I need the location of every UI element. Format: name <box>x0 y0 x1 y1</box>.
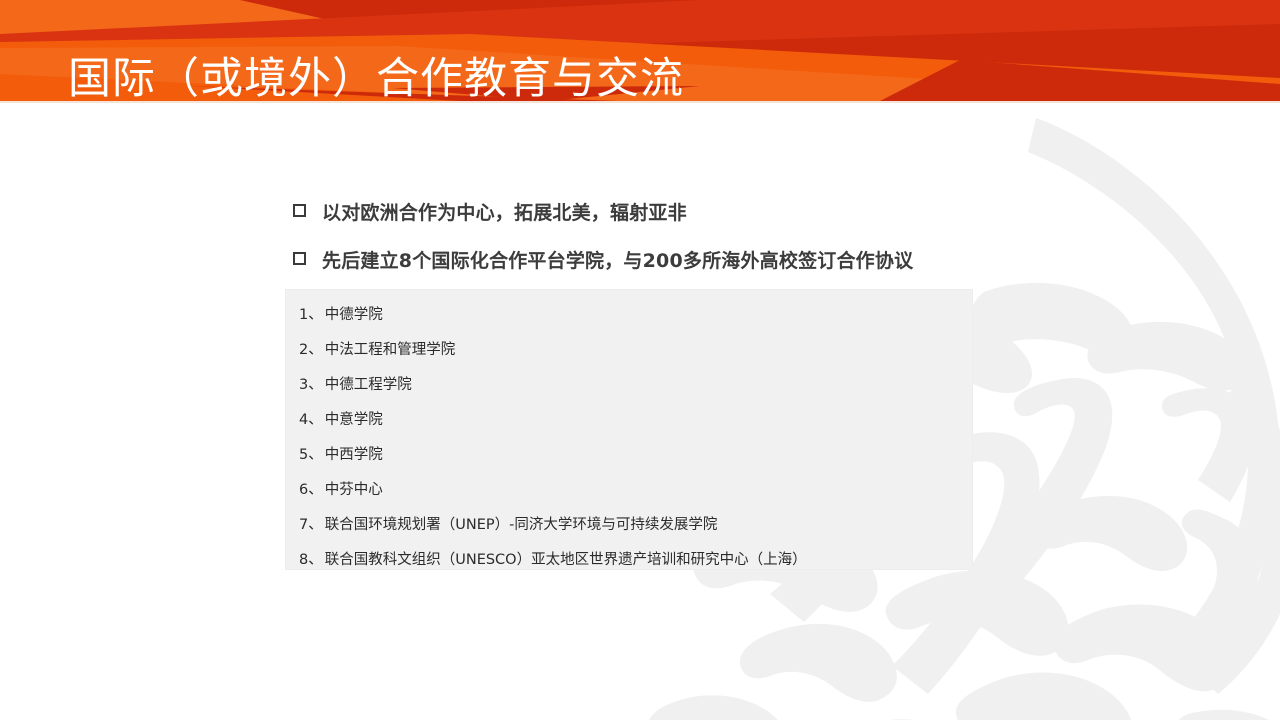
list-item: 2、 中法工程和管理学院 <box>299 338 972 360</box>
list-item-label: 中法工程和管理学院 <box>325 338 456 359</box>
list-item: 3、 中德工程学院 <box>299 373 972 395</box>
hollow-square-icon <box>293 204 306 217</box>
list-item-index: 7、 <box>299 513 323 534</box>
list-item-index: 8、 <box>299 548 323 569</box>
list-item-index: 5、 <box>299 443 323 464</box>
list-item: 1、 中德学院 <box>299 303 972 325</box>
list-item-label: 联合国环境规划署（UNEP）-同济大学环境与可持续发展学院 <box>325 513 718 534</box>
list-item-index: 2、 <box>299 338 323 359</box>
slide-canvas: 国际（或境外）合作教育与交流 以对欧洲合作为中心，拓展北美，辐射亚非 先后建立8… <box>0 0 1280 720</box>
list-item-label: 中芬中心 <box>325 478 383 499</box>
list-item-label: 中西学院 <box>325 443 383 464</box>
list-item: 6、 中芬中心 <box>299 478 972 500</box>
list-item-label: 中德学院 <box>325 303 383 324</box>
institution-list-panel: 1、 中德学院 2、 中法工程和管理学院 3、 中德工程学院 4、 中意学院 5… <box>285 289 973 570</box>
list-item: 8、 联合国教科文组织（UNESCO）亚太地区世界遗产培训和研究中心（上海） <box>299 548 972 570</box>
bullet-item-label: 先后建立8个国际化合作平台学院，与200多所海外高校签订合作协议 <box>322 246 913 273</box>
list-item-label: 联合国教科文组织（UNESCO）亚太地区世界遗产培训和研究中心（上海） <box>325 548 807 569</box>
list-item-index: 1、 <box>299 303 323 324</box>
bullet-item-label: 以对欧洲合作为中心，拓展北美，辐射亚非 <box>322 198 687 225</box>
list-item: 4、 中意学院 <box>299 408 972 430</box>
bullet-item: 以对欧洲合作为中心，拓展北美，辐射亚非 <box>293 198 913 232</box>
list-item-index: 4、 <box>299 408 323 429</box>
list-item: 7、 联合国环境规划署（UNEP）-同济大学环境与可持续发展学院 <box>299 513 972 535</box>
bullet-list: 以对欧洲合作为中心，拓展北美，辐射亚非 先后建立8个国际化合作平台学院，与200… <box>293 198 913 294</box>
list-item-label: 中德工程学院 <box>325 373 412 394</box>
list-item-label: 中意学院 <box>325 408 383 429</box>
list-item-index: 3、 <box>299 373 323 394</box>
page-title: 国际（或境外）合作教育与交流 <box>68 29 684 130</box>
list-item: 5、 中西学院 <box>299 443 972 465</box>
hollow-square-icon <box>293 252 306 265</box>
list-item-index: 6、 <box>299 478 323 499</box>
bullet-item: 先后建立8个国际化合作平台学院，与200多所海外高校签订合作协议 <box>293 246 913 280</box>
